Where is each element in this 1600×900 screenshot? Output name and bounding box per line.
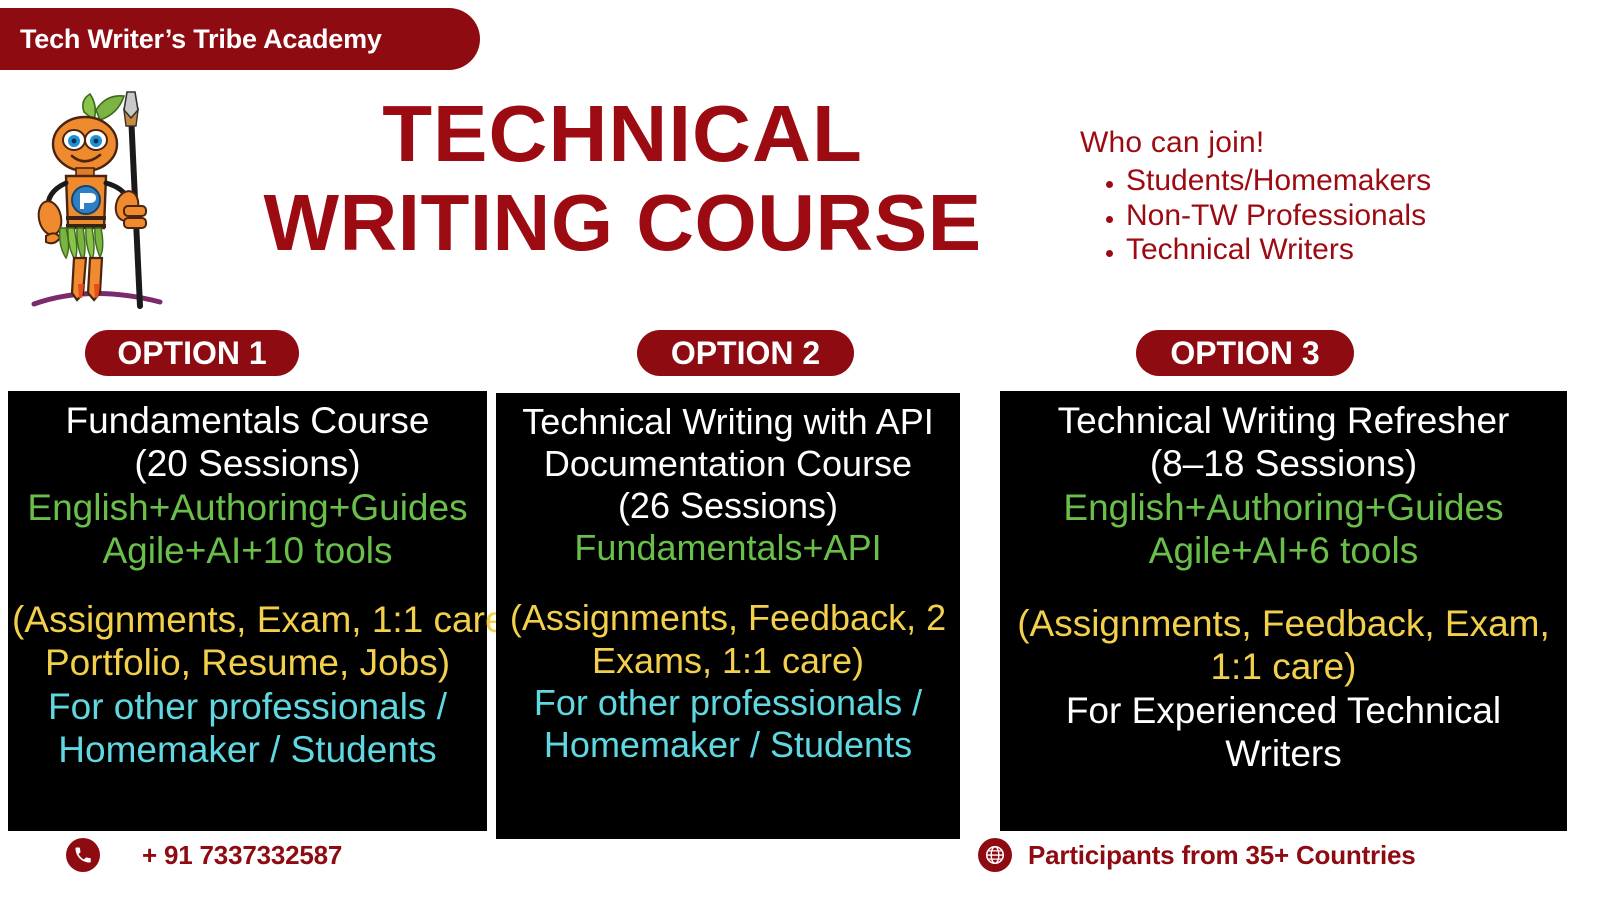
phone-icon <box>66 838 100 872</box>
card-text-line: For other professionals / <box>500 682 956 724</box>
page-title: TECHNICAL WRITING COURSE <box>200 94 1045 262</box>
card-text-line: (Assignments, Feedback, Exam, <box>1004 602 1563 645</box>
brand-banner: Tech Writer’s Tribe Academy <box>0 8 480 70</box>
who-can-join-block: Who can join! Students/Homemakers Non-TW… <box>1080 126 1431 268</box>
globe-icon <box>978 838 1012 872</box>
footer-phone-number: + 91 7337332587 <box>142 840 342 871</box>
card-text-line: Agile+AI+10 tools <box>12 529 483 572</box>
card-text-line: Agile+AI+6 tools <box>1004 529 1563 572</box>
card-spacer <box>500 569 956 597</box>
option-badge-2-label: OPTION 2 <box>671 335 820 372</box>
card-text-line: Homemaker / Students <box>500 724 956 766</box>
title-line-1: TECHNICAL <box>192 94 1054 173</box>
option-card-2[interactable]: Technical Writing with APIDocumentation … <box>496 393 960 839</box>
fingers-left <box>46 233 60 243</box>
option-badge-1-label: OPTION 1 <box>117 335 266 372</box>
card-text-line: English+Authoring+Guides <box>1004 486 1563 529</box>
card-text-line: (20 Sessions) <box>12 442 483 485</box>
who-can-join-item: Technical Writers <box>1126 233 1431 268</box>
card-text-line: 1:1 care) <box>1004 645 1563 688</box>
footer-phone[interactable]: + 91 7337332587 <box>66 838 342 872</box>
card-spacer <box>12 572 483 598</box>
card-text-line: Technical Writing Refresher <box>1004 399 1563 442</box>
leaf-right <box>96 96 124 120</box>
card-text-line: (8–18 Sessions) <box>1004 442 1563 485</box>
option-badge-3[interactable]: OPTION 3 <box>1136 330 1354 376</box>
who-can-join-list: Students/Homemakers Non-TW Professionals… <box>1080 164 1431 268</box>
mascot-illustration <box>28 88 208 316</box>
card-text-line: (26 Sessions) <box>500 485 956 527</box>
option-badge-2[interactable]: OPTION 2 <box>637 330 854 376</box>
card-text-line: English+Authoring+Guides <box>12 486 483 529</box>
card-text-line: Fundamentals Course <box>12 399 483 442</box>
brand-banner-label: Tech Writer’s Tribe Academy <box>20 24 382 55</box>
card-text-line: Exams, 1:1 care) <box>500 640 956 682</box>
option-badge-3-label: OPTION 3 <box>1170 335 1319 372</box>
option-card-3[interactable]: Technical Writing Refresher(8–18 Session… <box>1000 391 1567 831</box>
card-text-line: Documentation Course <box>500 443 956 485</box>
option-card-1[interactable]: Fundamentals Course(20 Sessions)English+… <box>8 391 487 831</box>
card-text-line: (Assignments, Exam, 1:1 care, <box>12 598 483 641</box>
card-text-line: Writers <box>1004 732 1563 775</box>
card-text-line: Fundamentals+API <box>500 527 956 569</box>
card-text-line: Homemaker / Students <box>12 728 483 771</box>
who-can-join-item: Non-TW Professionals <box>1126 199 1431 234</box>
who-can-join-item: Students/Homemakers <box>1126 164 1431 199</box>
card-text-line: Portfolio, Resume, Jobs) <box>12 641 483 684</box>
card-text-line: Technical Writing with API <box>500 401 956 443</box>
card-spacer <box>1004 572 1563 602</box>
card-text-line: (Assignments, Feedback, 2 <box>500 597 956 639</box>
footer-countries-label: Participants from 35+ Countries <box>1028 840 1416 871</box>
grip-hand <box>124 206 146 216</box>
footer-countries[interactable]: Participants from 35+ Countries <box>978 838 1416 872</box>
card-text-line: For Experienced Technical <box>1004 689 1563 732</box>
who-can-join-heading: Who can join! <box>1080 126 1431 160</box>
card-text-line: For other professionals / <box>12 685 483 728</box>
grass-skirt <box>60 228 103 261</box>
option-badge-1[interactable]: OPTION 1 <box>85 330 299 376</box>
title-line-2: WRITING COURSE <box>200 183 1045 262</box>
